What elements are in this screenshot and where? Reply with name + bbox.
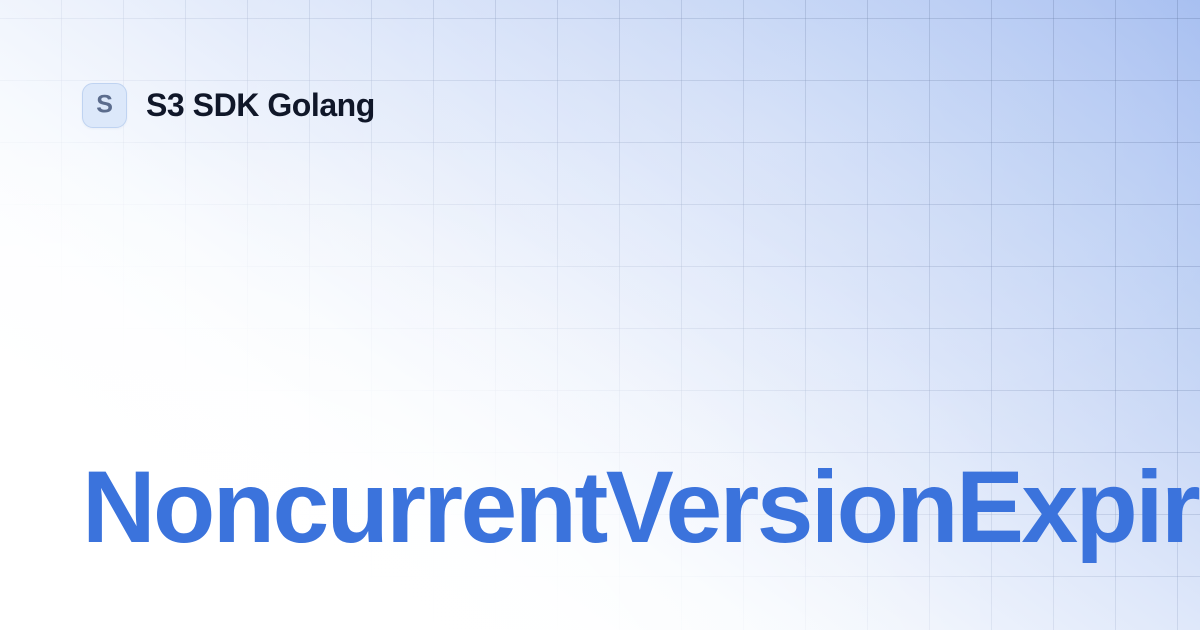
brand-row: S S3 SDK Golang <box>82 83 375 128</box>
og-card: S S3 SDK Golang NoncurrentVersionExpirat… <box>0 0 1200 630</box>
card-content: S S3 SDK Golang NoncurrentVersionExpirat… <box>0 0 1200 630</box>
brand-name: S3 SDK Golang <box>146 89 375 121</box>
brand-badge-letter: S <box>96 93 112 118</box>
s3-logo-badge-icon: S <box>82 83 127 128</box>
page-title: NoncurrentVersionExpiration <box>82 452 1200 562</box>
